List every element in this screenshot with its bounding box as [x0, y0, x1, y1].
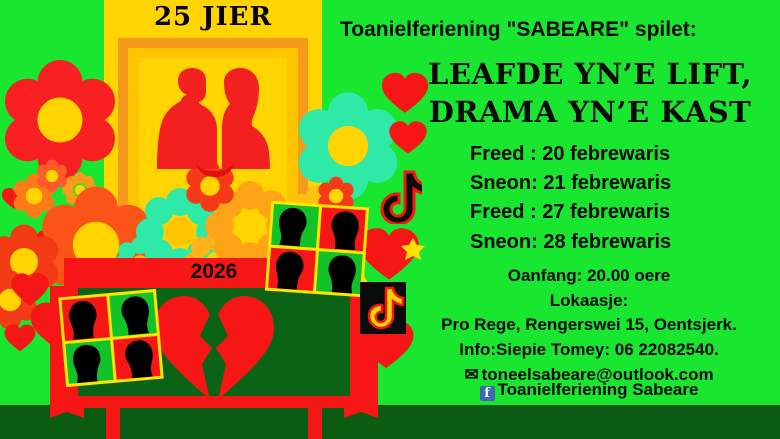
couple-silhouette-icon [150, 68, 280, 218]
head-silhouette-icon [65, 340, 113, 384]
facebook-icon: f [480, 386, 495, 401]
date-row: Sneon: 21 febrewaris [470, 169, 780, 198]
head-silhouette-cell [65, 340, 113, 384]
head-silhouette-icon [268, 247, 315, 291]
anniversary-badge: 25 JIER [104, 2, 322, 32]
head-silhouette-cell [268, 247, 315, 291]
cabinet-leg-right [308, 400, 322, 439]
company-line: Toanielferiening "SABEARE" spilet: [340, 18, 772, 42]
head-silhouette-icon [113, 335, 161, 379]
facebook-line[interactable]: fToanielferiening Sabeare [398, 380, 780, 401]
play-title: LEAFDE YN’E LIFT, DRAMA YN’E KAST [404, 56, 776, 131]
head-silhouette-cell [316, 251, 363, 295]
play-title-line-1: LEAFDE YN’E LIFT, [404, 56, 776, 94]
head-silhouette-icon [109, 292, 157, 336]
head-silhouette-cell [62, 296, 110, 340]
facebook-page-name[interactable]: Toanielferiening Sabeare [498, 380, 699, 399]
head-silhouette-cell [319, 207, 366, 251]
play-title-line-2: DRAMA YN’E KAST [404, 94, 776, 132]
event-info: Oanfang: 20.00 oere Lokaasje: Pro Rege, … [398, 264, 780, 387]
date-row: Freed : 27 febrewaris [470, 198, 780, 227]
cabinet-leg-left [106, 400, 120, 439]
head-silhouette-icon [316, 251, 363, 295]
location-address: Pro Rege, Rengerswei 15, Oentsjerk. [398, 313, 780, 338]
broken-heart-icon [152, 296, 276, 400]
contact-info: Info:Siepie Tomey: 06 22082540. [398, 338, 780, 363]
performance-dates: Freed : 20 febrewaris Sneon: 21 febrewar… [470, 140, 780, 257]
photo-grid-left[interactable] [58, 289, 163, 387]
head-silhouette-cell [113, 335, 161, 379]
head-silhouette-cell [109, 292, 157, 336]
flower-icon [5, 60, 115, 180]
head-silhouette-icon [271, 204, 318, 248]
event-poster: 2026 [0, 0, 780, 439]
location-label: Lokaasje: [398, 289, 780, 314]
head-silhouette-icon [319, 207, 366, 251]
date-row: Sneon: 28 febrewaris [470, 228, 780, 257]
tiktok-note-icon[interactable] [378, 170, 422, 224]
head-silhouette-cell [271, 204, 318, 248]
head-silhouette-icon [62, 296, 110, 340]
start-time: Oanfang: 20.00 oere [398, 264, 780, 289]
photo-grid-right[interactable] [265, 201, 369, 298]
date-row: Freed : 20 febrewaris [470, 140, 780, 169]
